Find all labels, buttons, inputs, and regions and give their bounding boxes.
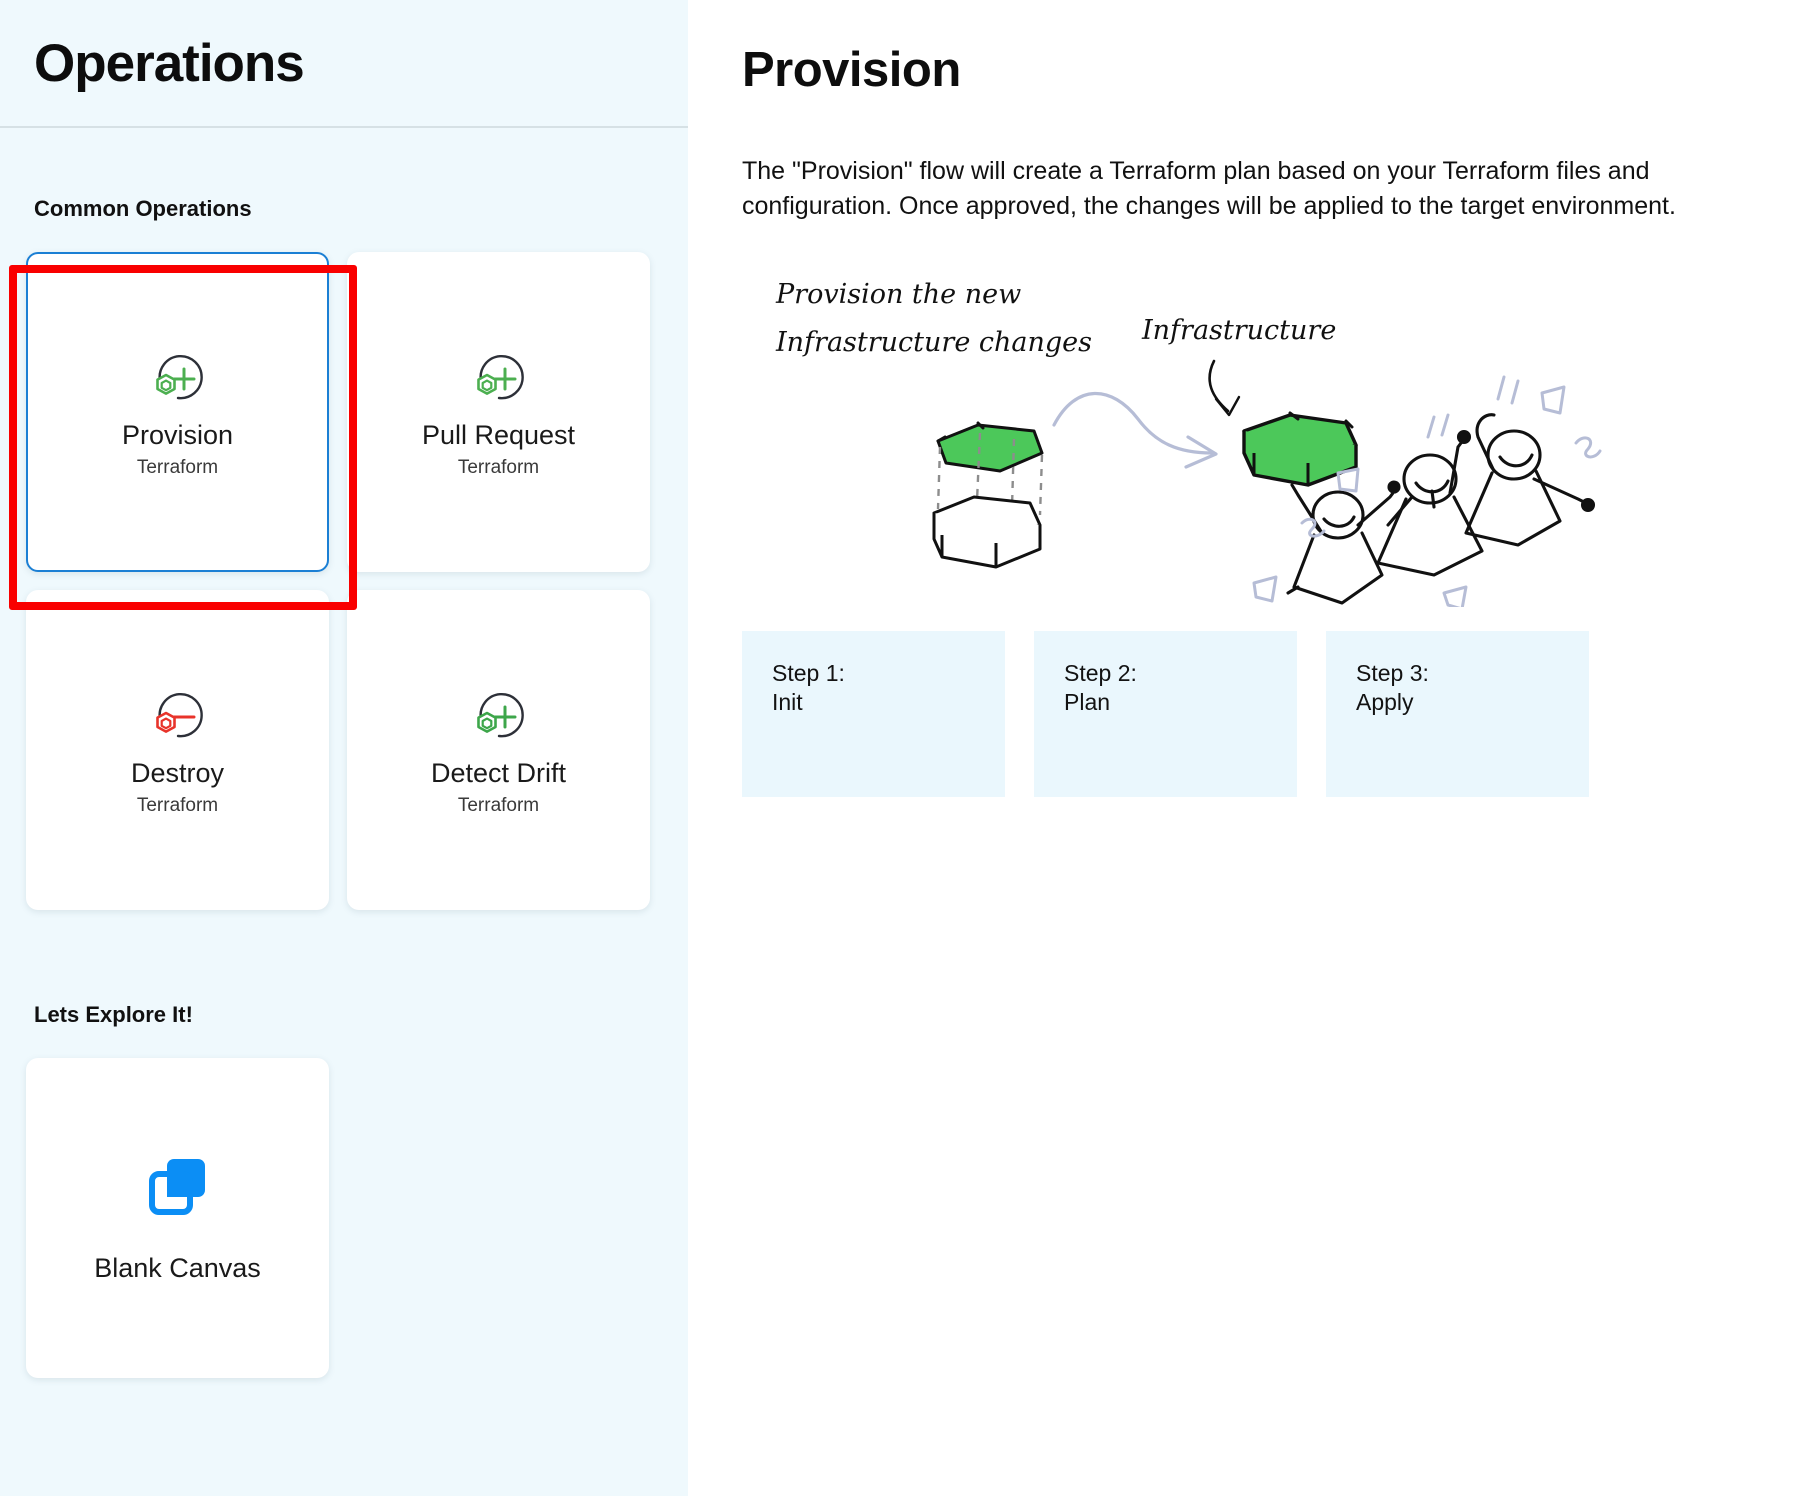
operation-card-title: Provision — [122, 419, 233, 453]
operation-detail-panel: Provision The "Provision" flow will crea… — [688, 0, 1800, 1496]
operation-card-subtitle: Terraform — [137, 457, 218, 479]
step-name: Init — [772, 688, 1005, 717]
annotation-text-left-line2: Infrastructure changes — [775, 327, 1092, 358]
step-number: Step 3: — [1356, 659, 1589, 688]
steps-row: Step 1: Init Step 2: Plan Step 3: Apply — [742, 631, 1746, 797]
step-name: Apply — [1356, 688, 1589, 717]
operation-card-destroy[interactable]: Destroy Terraform — [26, 590, 329, 910]
operation-card-title: Pull Request — [422, 419, 575, 453]
provision-flow-illustration: Provision the new Infrastructure changes… — [742, 257, 1602, 607]
detail-description: The "Provision" flow will create a Terra… — [742, 154, 1746, 225]
explore-section: Lets Explore It! Blank Canvas — [0, 1002, 688, 1378]
step-name: Plan — [1064, 688, 1297, 717]
sidebar-header: Operations — [0, 0, 688, 128]
sketch-exploded-hexagon — [934, 423, 1042, 567]
operations-sidebar: Operations Common Operations Prov — [0, 0, 688, 1496]
section-label-lets-explore-it: Lets Explore It! — [0, 1002, 688, 1028]
common-operations-grid: Provision Terraform Pull Request T — [0, 252, 660, 910]
explore-grid: Blank Canvas — [0, 1058, 660, 1378]
minus-circle-hexagon-icon — [146, 683, 210, 747]
operation-card-subtitle: Terraform — [458, 795, 539, 817]
step-box-2: Step 2: Plan — [1034, 631, 1297, 797]
operation-card-provision[interactable]: Provision Terraform — [26, 252, 329, 572]
plus-circle-hexagon-icon — [146, 345, 210, 409]
operation-card-subtitle: Terraform — [458, 457, 539, 479]
operation-card-title: Destroy — [131, 757, 224, 791]
annotation-text-left-line1: Provision the new — [775, 279, 1021, 310]
plus-circle-hexagon-icon — [467, 683, 531, 747]
operation-card-subtitle: Terraform — [137, 795, 218, 817]
operation-card-detect-drift[interactable]: Detect Drift Terraform — [347, 590, 650, 910]
operations-page: Operations Common Operations Prov — [0, 0, 1800, 1496]
page-title: Operations — [34, 37, 304, 90]
step-number: Step 2: — [1064, 659, 1297, 688]
step-box-3: Step 3: Apply — [1326, 631, 1589, 797]
operation-card-title: Blank Canvas — [94, 1253, 261, 1284]
annotation-text-right: Infrastructure — [1141, 315, 1336, 346]
detail-title: Provision — [742, 44, 1746, 98]
step-box-1: Step 1: Init — [742, 631, 1005, 797]
common-operations-section: Common Operations Provision Terraform — [0, 196, 688, 910]
operation-card-blank-canvas[interactable]: Blank Canvas — [26, 1058, 329, 1378]
operation-card-pull-request[interactable]: Pull Request Terraform — [347, 252, 650, 572]
step-number: Step 1: — [772, 659, 1005, 688]
section-label-common-operations: Common Operations — [0, 196, 688, 222]
blank-canvas-icon — [145, 1153, 211, 1219]
operation-card-title: Detect Drift — [431, 757, 566, 791]
plus-circle-hexagon-icon — [467, 345, 531, 409]
